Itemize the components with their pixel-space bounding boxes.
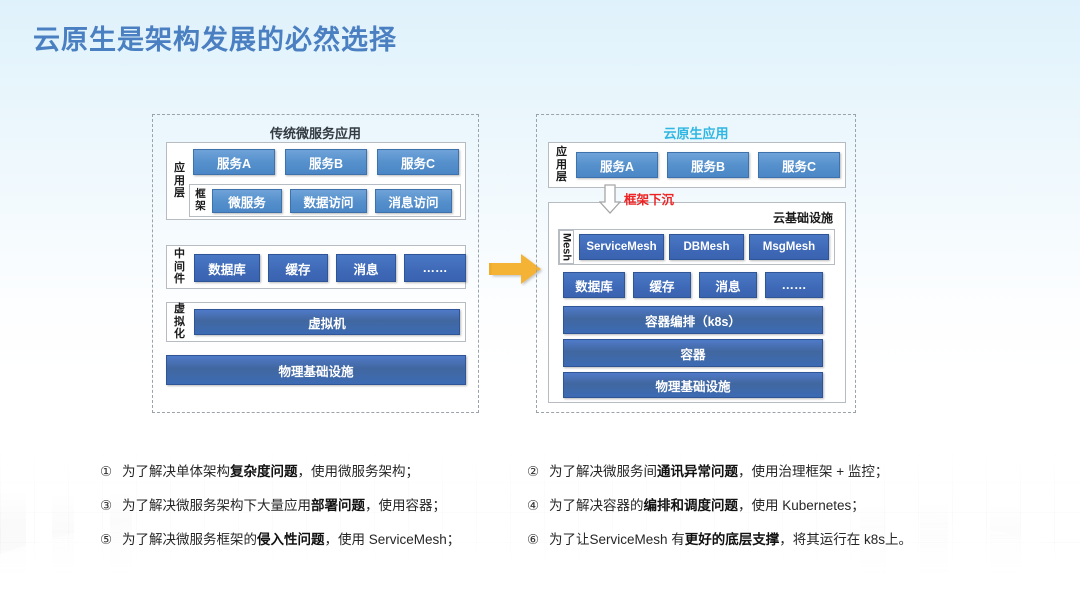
bullet-text: 为了解决微服务架构下大量应用部署问题，使用容器； <box>122 489 446 523</box>
bullet-number: ③ <box>100 489 122 523</box>
bullet-text: 为了解决微服务框架的侵入性问题，使用 ServiceMesh； <box>122 523 460 557</box>
left-service-b[interactable]: 服务B <box>285 149 367 175</box>
left-service-a[interactable]: 服务A <box>193 149 275 175</box>
bullet-item: ⑤ 为了解决微服务框架的侵入性问题，使用 ServiceMesh； <box>100 523 530 557</box>
bullet-number: ⑥ <box>527 523 549 557</box>
left-middleware-cache[interactable]: 缓存 <box>268 254 328 282</box>
bullet-number: ① <box>100 455 122 489</box>
left-virtual-machine[interactable]: 虚拟机 <box>194 309 460 335</box>
right-service-b[interactable]: 服务B <box>667 152 749 178</box>
bullets-right-column: ② 为了解决微服务间通讯异常问题，使用治理框架 + 监控； ④ 为了解决容器的编… <box>527 455 987 557</box>
traditional-architecture-panel: 传统微服务应用 应用层 服务A 服务B 服务C 框架 微服务 数据访问 消息访问… <box>152 114 479 413</box>
page-title: 云原生是架构发展的必然选择 <box>33 18 397 57</box>
bullet-text: 为了解决微服务间通讯异常问题，使用治理框架 + 监控； <box>549 455 888 489</box>
left-middleware-label: 中间件 <box>171 248 188 286</box>
slide-canvas: 云原生是架构发展的必然选择 传统微服务应用 应用层 服务A 服务B 服务C 框架… <box>0 0 1080 603</box>
left-panel-title: 传统微服务应用 <box>153 123 478 142</box>
cloud-middleware-more[interactable]: …… <box>765 272 823 298</box>
right-service-c[interactable]: 服务C <box>758 152 840 178</box>
left-service-c[interactable]: 服务C <box>377 149 459 175</box>
right-app-layer-label: 应用层 <box>553 146 570 184</box>
framework-sink-label: 框架下沉 <box>624 189 674 208</box>
bullet-text: 为了让ServiceMesh 有更好的底层支撑，将其运行在 k8s上。 <box>549 523 912 557</box>
left-physical-infrastructure[interactable]: 物理基础设施 <box>166 355 466 385</box>
bullet-number: ② <box>527 455 549 489</box>
bullets-left-column: ① 为了解决单体架构复杂度问题，使用微服务架构； ③ 为了解决微服务架构下大量应… <box>100 455 530 557</box>
mesh-group: Mesh ServiceMesh DBMesh MsgMesh <box>558 229 835 265</box>
cloud-stack-container[interactable]: 容器 <box>563 339 823 367</box>
mesh-side-label-box: Mesh <box>559 230 574 264</box>
left-virtualization-label: 虚拟化 <box>171 303 188 341</box>
bullet-item: ② 为了解决微服务间通讯异常问题，使用治理框架 + 监控； <box>527 455 987 489</box>
right-panel-title: 云原生应用 <box>537 123 855 142</box>
cloud-middleware-database[interactable]: 数据库 <box>563 272 625 298</box>
right-application-layer-group: 应用层 服务A 服务B 服务C <box>548 142 846 188</box>
bullet-item: ④ 为了解决容器的编排和调度问题，使用 Kubernetes； <box>527 489 987 523</box>
left-virtualization-group: 虚拟化 虚拟机 <box>166 302 466 342</box>
left-framework-item-microservice[interactable]: 微服务 <box>212 189 282 213</box>
cloud-middleware-cache[interactable]: 缓存 <box>633 272 691 298</box>
left-framework-group: 框架 微服务 数据访问 消息访问 <box>189 184 461 217</box>
right-service-a[interactable]: 服务A <box>576 152 658 178</box>
mesh-service-mesh[interactable]: ServiceMesh <box>579 234 664 260</box>
cloud-native-architecture-panel: 云原生应用 应用层 服务A 服务B 服务C 云基础设施 Mesh Service… <box>536 114 856 413</box>
bullet-text: 为了解决容器的编排和调度问题，使用 Kubernetes； <box>549 489 865 523</box>
left-app-layer-label: 应用层 <box>171 162 188 200</box>
left-middleware-group: 中间件 数据库 缓存 消息 …… <box>166 245 466 289</box>
left-middleware-message[interactable]: 消息 <box>336 254 396 282</box>
arrow-down-icon <box>599 184 621 214</box>
bullet-text: 为了解决单体架构复杂度问题，使用微服务架构； <box>122 455 419 489</box>
cloud-infrastructure-group: 云基础设施 Mesh ServiceMesh DBMesh MsgMesh 数据… <box>548 202 846 403</box>
bullet-item: ① 为了解决单体架构复杂度问题，使用微服务架构； <box>100 455 530 489</box>
cloud-middleware-message[interactable]: 消息 <box>699 272 757 298</box>
left-middleware-database[interactable]: 数据库 <box>194 254 260 282</box>
bullet-item: ③ 为了解决微服务架构下大量应用部署问题，使用容器； <box>100 489 530 523</box>
cloud-infrastructure-title: 云基础设施 <box>773 209 833 226</box>
cloud-stack-orchestration[interactable]: 容器编排（k8s） <box>563 306 823 334</box>
left-application-layer-group: 应用层 服务A 服务B 服务C 框架 微服务 数据访问 消息访问 <box>166 142 466 220</box>
bullet-number: ⑤ <box>100 523 122 557</box>
mesh-msg-mesh[interactable]: MsgMesh <box>749 234 829 260</box>
bullet-number: ④ <box>527 489 549 523</box>
mesh-db-mesh[interactable]: DBMesh <box>669 234 744 260</box>
mesh-side-label: Mesh <box>561 233 573 261</box>
left-framework-item-message-access[interactable]: 消息访问 <box>375 189 452 213</box>
left-framework-label: 框架 <box>193 189 208 212</box>
bullet-item: ⑥ 为了让ServiceMesh 有更好的底层支撑，将其运行在 k8s上。 <box>527 523 987 557</box>
left-middleware-more[interactable]: …… <box>404 254 466 282</box>
cloud-stack-physical-infrastructure[interactable]: 物理基础设施 <box>563 372 823 398</box>
left-framework-item-data-access[interactable]: 数据访问 <box>290 189 367 213</box>
